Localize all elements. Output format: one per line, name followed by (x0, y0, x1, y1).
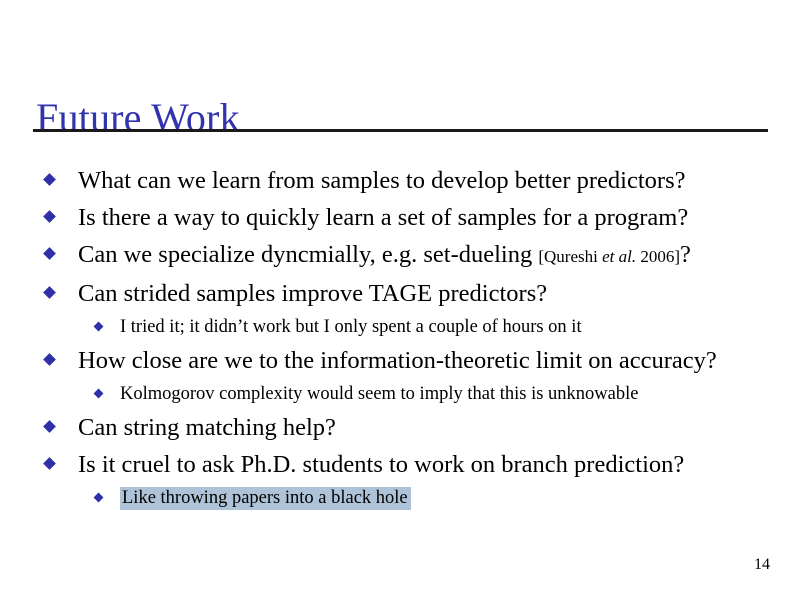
bullet-text: Can string matching help? (78, 414, 336, 441)
citation-open: [Qureshi (538, 247, 602, 266)
diamond-bullet-icon (43, 247, 56, 260)
sub-bullet-text: Kolmogorov complexity would seem to impl… (120, 384, 638, 404)
diamond-bullet-icon (43, 173, 56, 186)
citation-et-al: et al. (602, 247, 636, 266)
bullet-list: What can we learn from samples to develo… (33, 162, 773, 513)
page-number: 14 (754, 556, 770, 574)
diamond-bullet-icon (43, 457, 56, 470)
citation-close: 2006] (636, 247, 680, 266)
title-divider (33, 129, 768, 132)
citation: [Qureshi et al. 2006] (538, 247, 680, 266)
bullet-item: Is there a way to quickly learn a set of… (33, 199, 773, 236)
diamond-bullet-icon (94, 493, 104, 503)
bullet-item: What can we learn from samples to develo… (33, 162, 773, 199)
diamond-bullet-icon (43, 210, 56, 223)
sub-bullet-text: I tried it; it didn’t work but I only sp… (120, 317, 582, 337)
sub-bullet-item: I tried it; it didn’t work but I only sp… (33, 312, 773, 342)
bullet-item: Is it cruel to ask Ph.D. students to wor… (33, 446, 773, 483)
slide: Future Work What can we learn from sampl… (0, 0, 800, 601)
diamond-bullet-icon (43, 353, 56, 366)
diamond-bullet-icon (43, 286, 56, 299)
bullet-text: Is there a way to quickly learn a set of… (78, 204, 688, 231)
bullet-text: Is it cruel to ask Ph.D. students to wor… (78, 451, 684, 478)
bullet-text-after: ? (680, 241, 691, 268)
slide-body: What can we learn from samples to develo… (33, 162, 773, 513)
bullet-text: How close are we to the information-theo… (78, 347, 717, 374)
bullet-item-citation: Can we specialize dyncmially, e.g. set-d… (33, 236, 773, 275)
sub-bullet-item-highlighted: Like throwing papers into a black hole (33, 483, 773, 513)
highlighted-text: Like throwing papers into a black hole (120, 487, 411, 510)
bullet-item: Can strided samples improve TAGE predict… (33, 275, 773, 312)
diamond-bullet-icon (94, 389, 104, 399)
diamond-bullet-icon (43, 420, 56, 433)
bullet-item: How close are we to the information-theo… (33, 342, 773, 379)
diamond-bullet-icon (94, 322, 104, 332)
bullet-item: Can string matching help? (33, 409, 773, 446)
sub-bullet-item: Kolmogorov complexity would seem to impl… (33, 379, 773, 409)
bullet-text: Can we specialize dyncmially, e.g. set-d… (78, 241, 538, 268)
page-title: Future Work (36, 95, 240, 141)
bullet-text: Can strided samples improve TAGE predict… (78, 280, 547, 307)
bullet-text: What can we learn from samples to develo… (78, 167, 686, 194)
